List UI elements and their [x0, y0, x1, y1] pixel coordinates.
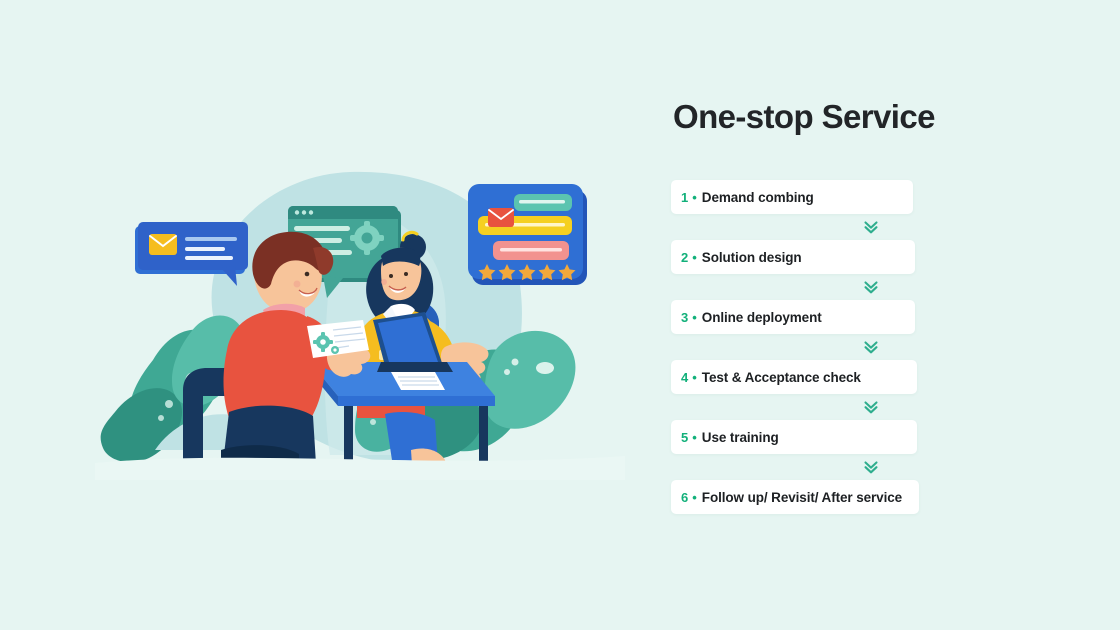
step-bullet-icon: •: [692, 311, 697, 324]
step-label: Solution design: [702, 250, 802, 265]
flow-step-4[interactable]: 4 • Test & Acceptance check: [671, 360, 917, 394]
chevron-double-down-icon: [863, 339, 879, 355]
chevron-double-down-icon: [863, 459, 879, 475]
step-bullet-icon: •: [692, 191, 697, 204]
step-bullet-icon: •: [692, 491, 697, 504]
step-label: Follow up/ Revisit/ After service: [702, 490, 902, 505]
flow-arrow-3: [671, 334, 1071, 360]
chevron-double-down-icon: [863, 219, 879, 235]
illustration: [95, 150, 625, 480]
flow-step-5[interactable]: 5 • Use training: [671, 420, 917, 454]
chevron-double-down-icon: [863, 399, 879, 415]
envelope-icon: [488, 208, 514, 227]
flow-step-3[interactable]: 3 • Online deployment: [671, 300, 915, 334]
step-number: 4: [681, 371, 688, 384]
step-number: 6: [681, 491, 688, 504]
process-flow-list: 1 • Demand combing 2 • Solution design: [671, 180, 1071, 514]
flow-arrow-2: [671, 274, 1071, 300]
page-title: One-stop Service: [673, 100, 1071, 133]
email-speech-bubble-icon: [135, 222, 248, 286]
step-label: Demand combing: [702, 190, 814, 205]
step-bullet-icon: •: [692, 431, 697, 444]
step-bullet-icon: •: [692, 251, 697, 264]
step-number: 1: [681, 191, 688, 204]
step-number: 5: [681, 431, 688, 444]
flow-step-2[interactable]: 2 • Solution design: [671, 240, 915, 274]
content-panel: One-stop Service 1 • Demand combing 2 • …: [671, 100, 1071, 514]
flow-step-1[interactable]: 1 • Demand combing: [671, 180, 913, 214]
flow-step-6[interactable]: 6 • Follow up/ Revisit/ After service: [671, 480, 919, 514]
flow-arrow-4: [671, 394, 1071, 420]
flow-arrow-1: [671, 214, 1071, 240]
flow-arrow-5: [671, 454, 1071, 480]
step-label: Online deployment: [702, 310, 822, 325]
step-label: Test & Acceptance check: [702, 370, 861, 385]
step-number: 3: [681, 311, 688, 324]
review-card-with-stars-icon: [468, 184, 587, 285]
slide-canvas: One-stop Service 1 • Demand combing 2 • …: [0, 0, 1120, 630]
chevron-double-down-icon: [863, 279, 879, 295]
step-bullet-icon: •: [692, 371, 697, 384]
step-number: 2: [681, 251, 688, 264]
step-label: Use training: [702, 430, 779, 445]
